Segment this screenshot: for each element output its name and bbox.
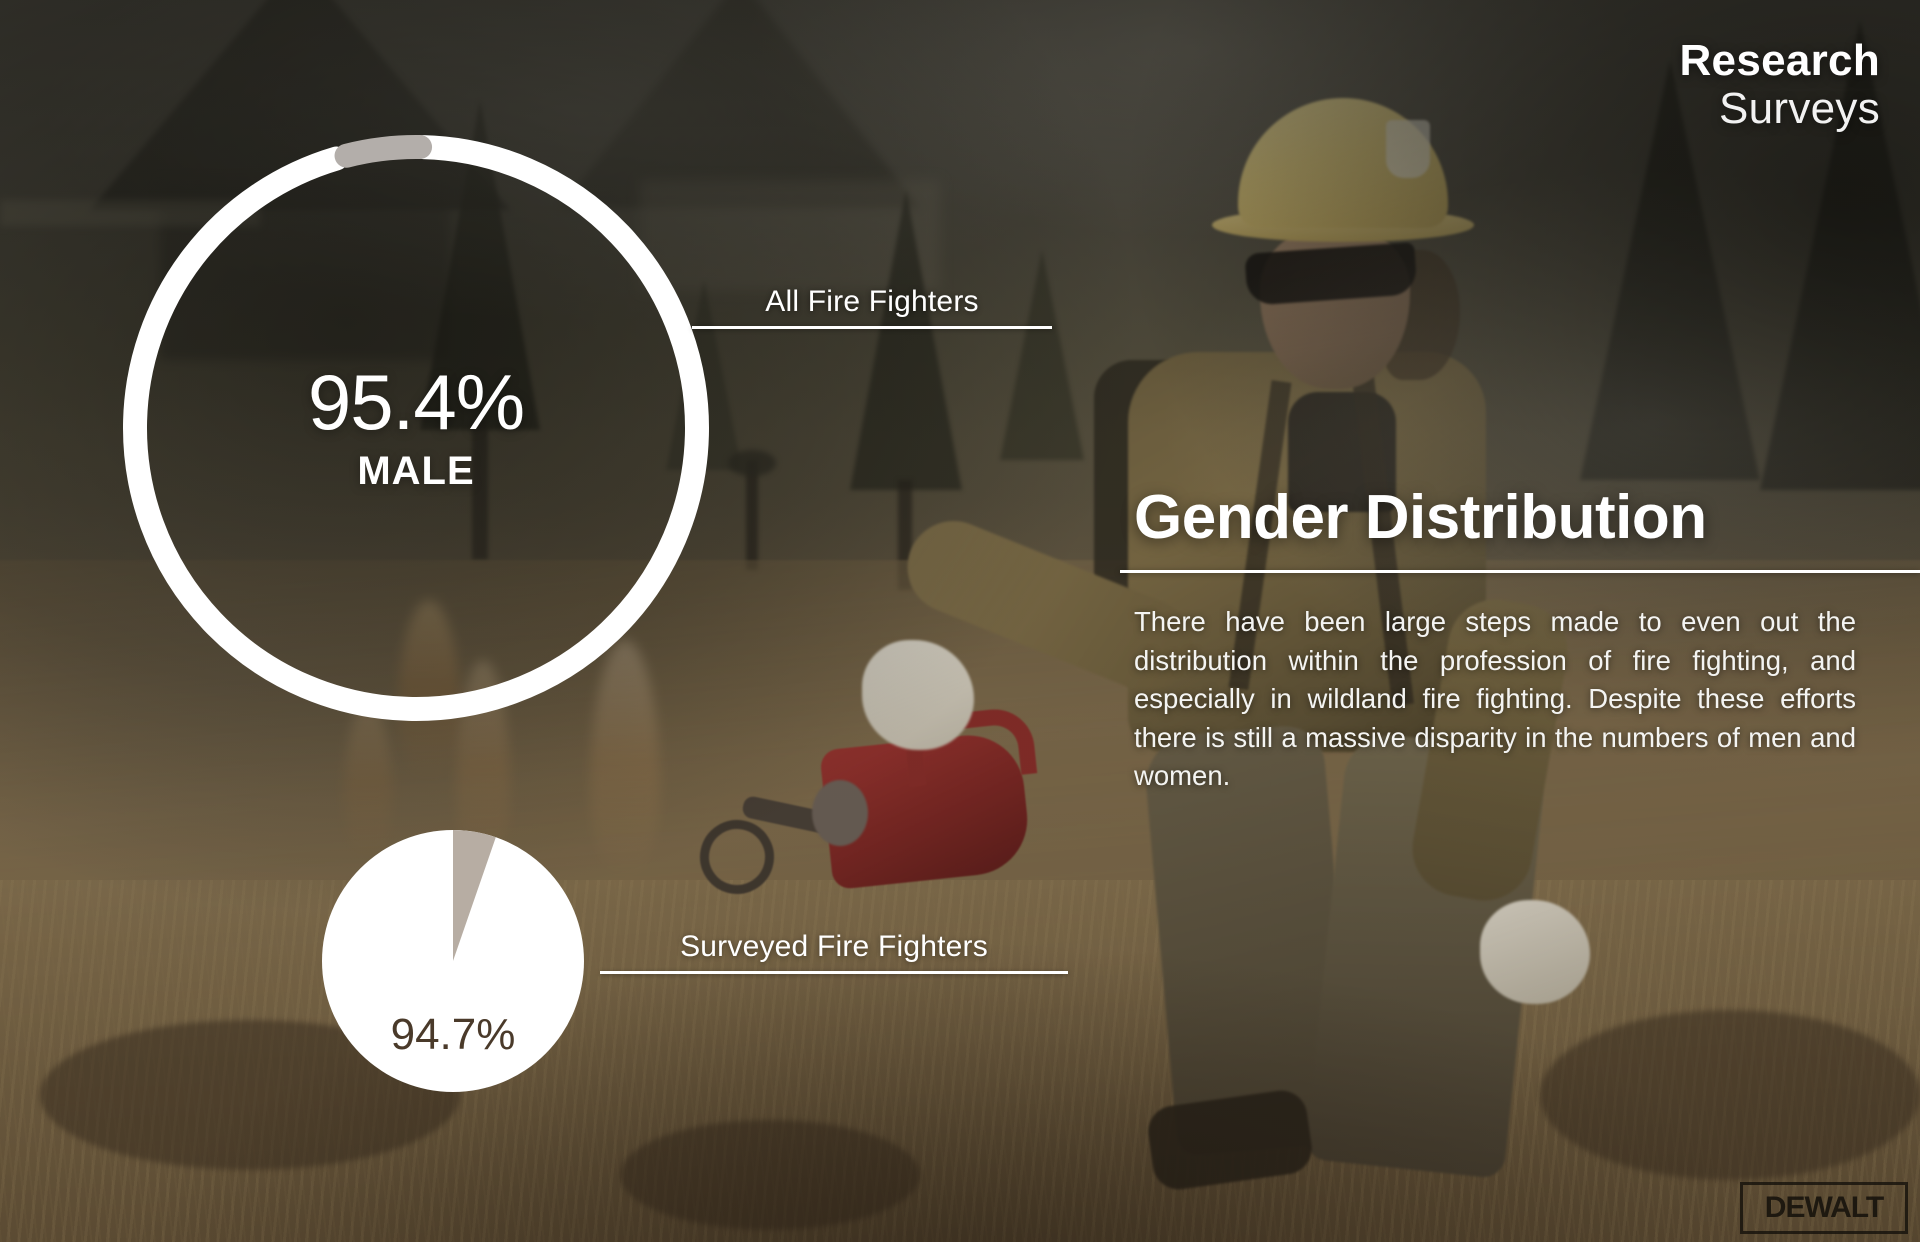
donut-male-arc: [128, 140, 705, 717]
surveyed-fire-fighters-pie-chart: [320, 828, 586, 1094]
callout-all-fire-fighters: All Fire Fighters: [692, 285, 1052, 329]
brand-block: Research Surveys: [1679, 38, 1880, 133]
brand-line-surveys: Surveys: [1679, 85, 1880, 133]
all-fire-fighters-donut-chart: [120, 132, 712, 724]
body-paragraph: There have been large steps made to even…: [1134, 603, 1856, 796]
callout-surveyed-fire-fighters: Surveyed Fire Fighters: [600, 930, 1068, 974]
headline-divider: [1120, 570, 1920, 573]
page-title: Gender Distribution: [1134, 482, 1707, 553]
infographic-slide: 95.4% MALE All Fire Fighters 94.7% Surve…: [0, 0, 1920, 1242]
callout-all-fire-fighters-label: All Fire Fighters: [692, 285, 1052, 319]
callout-surveyed-fire-fighters-label: Surveyed Fire Fighters: [600, 930, 1068, 964]
content-overlay: 95.4% MALE All Fire Fighters 94.7% Surve…: [0, 0, 1920, 1242]
callout-underline: [692, 326, 1052, 329]
callout-underline: [600, 971, 1068, 974]
brand-line-research: Research: [1679, 38, 1880, 85]
watermark-text: DEWALT: [1765, 1191, 1883, 1225]
dewalt-watermark-logo: DEWALT: [1740, 1182, 1908, 1234]
